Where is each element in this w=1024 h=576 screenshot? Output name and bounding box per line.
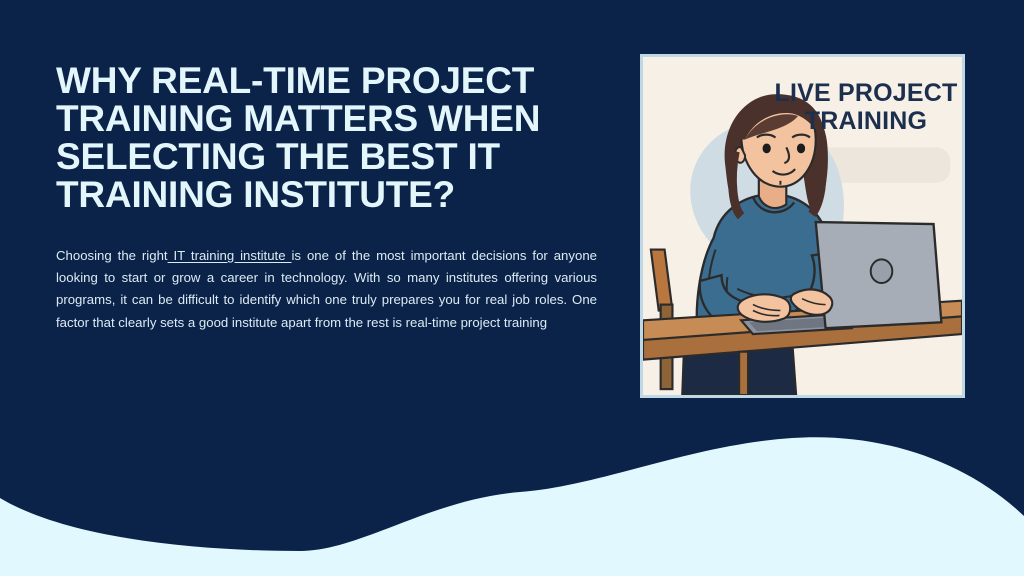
woman-working-on-laptop-illustration xyxy=(643,57,962,395)
illustration-card: Live Project Training xyxy=(640,54,965,398)
banner-canvas: Why Real-Time Project Training Matters W… xyxy=(0,0,1024,576)
it-training-institute-link[interactable]: IT training institute xyxy=(168,248,292,263)
page-title: Why Real-Time Project Training Matters W… xyxy=(56,62,602,214)
paragraph-lead-text: Choosing the right xyxy=(56,248,168,263)
text-column: Why Real-Time Project Training Matters W… xyxy=(56,62,602,334)
body-paragraph-wrapper: Choosing the right IT training institute… xyxy=(56,245,597,334)
body-paragraph: Choosing the right IT training institute… xyxy=(56,245,597,334)
